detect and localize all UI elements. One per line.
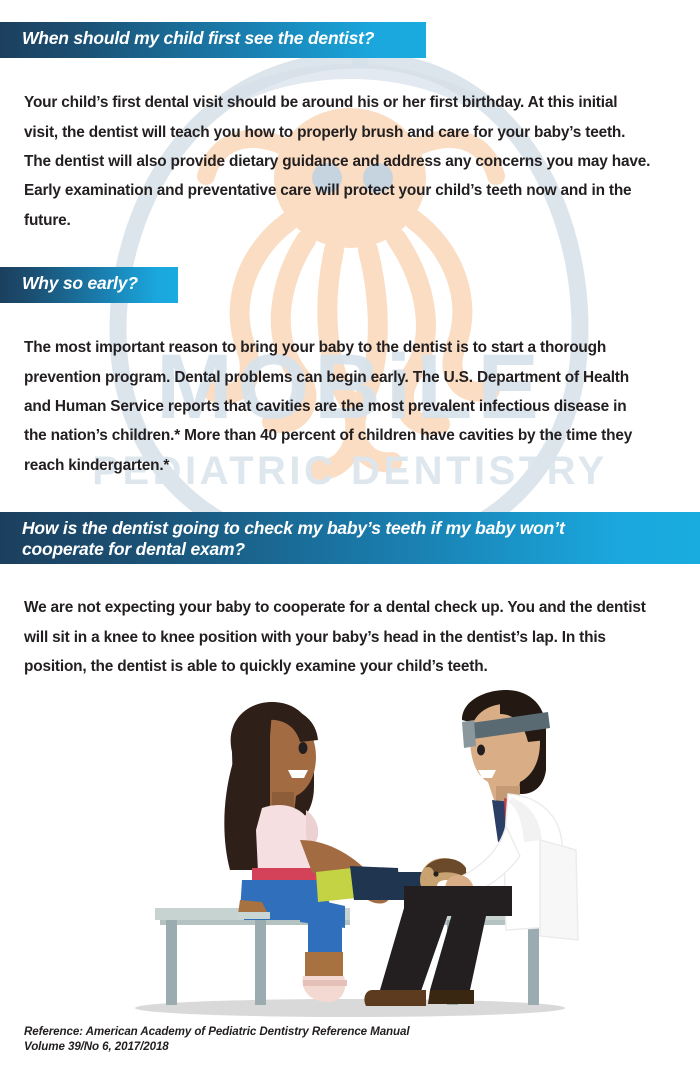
- mother-belt: [252, 868, 318, 880]
- section-heading-3: How is the dentist going to check my bab…: [22, 518, 565, 561]
- page-content: When should my child first see the denti…: [0, 0, 700, 1075]
- baby-eye: [433, 871, 438, 876]
- dentist-shoe-front: [364, 990, 426, 1006]
- section-heading-2: Why so early?: [22, 273, 138, 294]
- illustration-svg: [0, 690, 700, 1020]
- mother-figure: [224, 702, 390, 1002]
- section-header-bar-3: How is the dentist going to check my bab…: [0, 512, 700, 564]
- baby-pants: [350, 866, 400, 900]
- section-body-2: The most important reason to bring your …: [24, 333, 652, 479]
- mother-eye: [299, 742, 308, 754]
- floor-shadow: [135, 999, 565, 1017]
- dentist-shoe-back: [428, 990, 474, 1004]
- mother-shoe-strap: [303, 980, 347, 986]
- dentist-eye: [477, 745, 485, 756]
- bench: [155, 908, 546, 1005]
- baby-ear: [422, 867, 434, 881]
- mother-tucked-shoe: [238, 912, 270, 919]
- baby-onesie: [316, 868, 356, 902]
- dentist-figure: [364, 690, 578, 1006]
- reference-note: Reference: American Academy of Pediatric…: [24, 1024, 624, 1055]
- dentist-headlamp-light: [462, 720, 476, 748]
- section-body-3: We are not expecting your baby to cooper…: [24, 593, 652, 681]
- knee-to-knee-dental-exam-illustration: [0, 690, 700, 1020]
- section-header-bar-2: Why so early?: [0, 267, 178, 303]
- dentist-coat-tail: [540, 840, 578, 940]
- mother-boot-top: [305, 952, 343, 976]
- section-body-1: Your child’s first dental visit should b…: [24, 88, 652, 234]
- section-heading-1: When should my child first see the denti…: [22, 28, 374, 49]
- section-header-bar-1: When should my child first see the denti…: [0, 22, 426, 58]
- mother-shoe: [303, 976, 346, 1002]
